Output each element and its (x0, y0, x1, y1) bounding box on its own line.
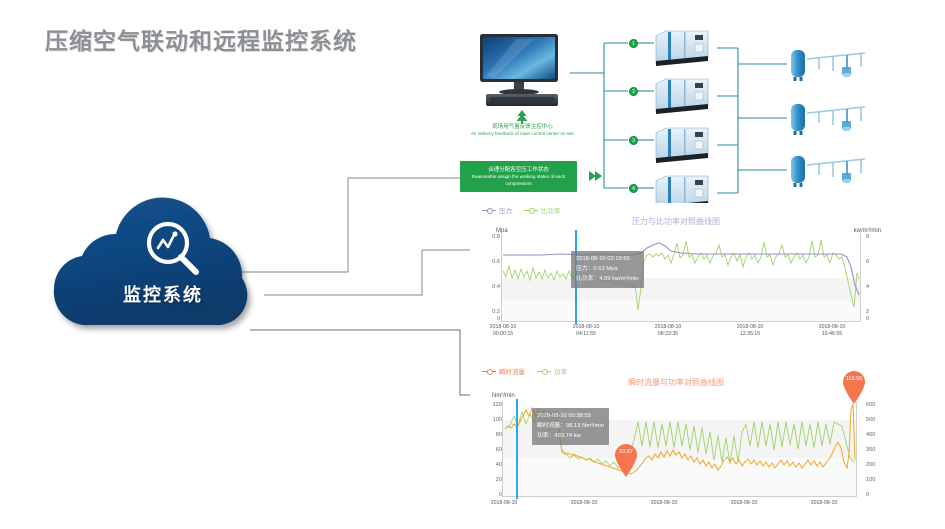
y2-tick: 500 (866, 417, 882, 423)
cloud-label: 监控系统 (38, 281, 288, 307)
legend-item-specific-power[interactable]: 比功率 (524, 205, 561, 215)
legend-label: 压力 (499, 205, 512, 215)
pressure-plot-area (501, 233, 861, 322)
x-tick-time: 00:00:15 (477, 331, 529, 338)
y2-tick: 600 (866, 402, 882, 408)
y-tick: 0.6 (484, 259, 500, 265)
air-tank-group-1[interactable] (787, 45, 873, 83)
x-tick: 2018-08-10 (718, 500, 770, 507)
x-tick-time: 12:35:15 (724, 331, 776, 338)
pressure-chart-title: 压力与比功率对照曲线图 (470, 216, 882, 227)
flow-chart-tooltip: 2018-08-10 00:38:55 瞬时流量：98.13 Nm³/min 功… (532, 408, 609, 445)
node-dot-4[interactable]: 4 (629, 184, 638, 193)
tooltip-line-1: 压力：0.63 Mpa (576, 264, 639, 274)
x-tick-date: 2018-08-10 (798, 500, 850, 507)
legend-item-instant-flow[interactable]: 瞬时流量 (482, 366, 525, 376)
x-tick: 2018-08-10 (558, 500, 610, 507)
legend-label: 比功率 (541, 205, 561, 215)
y-tick: 20 (486, 477, 502, 483)
tooltip-timestamp: 2018-08-10 02:19:55 (576, 254, 639, 264)
x-tick-time: 16:46:55 (806, 331, 858, 338)
y-tick: 60 (486, 447, 502, 453)
air-tank-group-3[interactable] (787, 151, 873, 189)
flow-chart[interactable]: 瞬时流量 功率 瞬时流量与功率对照曲线图 Nm³/min 120 100 80 … (470, 364, 882, 512)
pressure-chart[interactable]: 压力 比功率 压力与比功率对照曲线图 Mpa kw/m³/min 0.8 0.6… (470, 203, 882, 335)
marker-value: 118.55 (841, 376, 867, 382)
data-marker-pin-low[interactable]: 33.87 (613, 443, 639, 477)
y2-tick: 6 (866, 259, 882, 265)
flow-y-left-unit: Nm³/min (492, 393, 515, 399)
y2-tick: 0 (866, 492, 882, 498)
data-marker-pin-high[interactable]: 118.55 (841, 370, 867, 404)
x-tick-date: 2018-08-10 (806, 324, 858, 331)
x-tick-date: 2018-08-10 (558, 500, 610, 507)
x-tick: 2018-08-10 08:23:35 (642, 324, 694, 338)
x-tick-date: 2018-08-10 (477, 324, 529, 331)
y2-tick: 300 (866, 447, 882, 453)
legend-marker-icon (482, 207, 496, 214)
x-tick: 2018-08-10 00:00:15 (477, 324, 529, 338)
y-tick: 0.8 (484, 234, 500, 240)
pressure-chart-legend[interactable]: 压力 比功率 (482, 205, 561, 215)
y2-tick: 8 (866, 234, 882, 240)
node-dot-1[interactable]: 1 (629, 39, 638, 48)
y-tick: 0 (486, 492, 502, 498)
node-dot-2[interactable]: 2 (629, 87, 638, 96)
system-topology-diagram: 现场用气量反馈主控中心 Air delivery feedback of mai… (432, 18, 945, 204)
marker-value: 33.87 (613, 449, 639, 455)
x-tick: 2018-08-10 16:46:55 (806, 324, 858, 338)
compressor-icon-1[interactable] (654, 28, 710, 66)
y-tick: 120 (486, 402, 502, 408)
legend-label: 功率 (554, 366, 567, 376)
y2-tick: 100 (866, 477, 882, 483)
y-tick: 0.2 (484, 309, 500, 315)
x-tick: 2018-08-10 12:35:15 (724, 324, 776, 338)
tooltip-line-2: 功率：493.74 kw (537, 431, 604, 441)
compressor-icon-3[interactable] (654, 125, 710, 163)
flow-chart-cursor (516, 399, 518, 499)
x-tick: 2018-08-10 (798, 500, 850, 507)
magnifier-chart-icon (142, 218, 204, 280)
y2-tick: 0 (866, 316, 882, 322)
legend-marker-icon (537, 368, 551, 375)
legend-label: 瞬时流量 (499, 366, 525, 376)
x-tick: 2018-08-10 (478, 500, 530, 507)
legend-item-power[interactable]: 功率 (537, 366, 567, 376)
x-tick: 2018-08-10 04:11:55 (560, 324, 612, 338)
node-dot-3[interactable]: 3 (629, 136, 638, 145)
x-tick-date: 2018-08-10 (642, 324, 694, 331)
y2-tick: 4 (866, 284, 882, 290)
legend-marker-icon (524, 207, 538, 214)
x-tick-time: 08:23:35 (642, 331, 694, 338)
x-tick-date: 2018-08-10 (560, 324, 612, 331)
compressor-icon-2[interactable] (654, 76, 710, 114)
tooltip-line-1: 瞬时流量：98.13 Nm³/min (537, 421, 604, 431)
slide-canvas: 压缩空气联动和远程监控系统 (0, 0, 945, 529)
air-tank-group-2[interactable] (787, 99, 873, 137)
flow-chart-title: 瞬时流量与功率对照曲线图 (470, 377, 882, 388)
y2-tick: 200 (866, 462, 882, 468)
x-tick-time: 04:11:55 (560, 331, 612, 338)
y-tick: 100 (486, 417, 502, 423)
y-tick: 0 (484, 316, 500, 322)
legend-item-pressure[interactable]: 压力 (482, 205, 512, 215)
x-tick-date: 2018-08-10 (478, 500, 530, 507)
flow-chart-legend[interactable]: 瞬时流量 功率 (482, 366, 567, 376)
y-tick: 40 (486, 462, 502, 468)
tooltip-line-2: 比功率：4.99 kw/m³/min (576, 274, 639, 284)
y-tick: 80 (486, 432, 502, 438)
x-tick-date: 2018-08-10 (638, 500, 690, 507)
x-tick-date: 2018-08-10 (724, 324, 776, 331)
y2-tick: 400 (866, 432, 882, 438)
legend-marker-icon (482, 368, 496, 375)
tooltip-timestamp: 2018-08-10 00:38:55 (537, 411, 604, 421)
pressure-chart-tooltip: 2018-08-10 02:19:55 压力：0.63 Mpa 比功率：4.99… (571, 251, 644, 288)
x-tick-date: 2018-08-10 (718, 500, 770, 507)
x-tick: 2018-08-10 (638, 500, 690, 507)
page-title: 压缩空气联动和远程监控系统 (45, 22, 357, 56)
monitoring-cloud[interactable]: 监控系统 (38, 186, 288, 336)
y2-tick: 2 (866, 309, 882, 315)
y-tick: 0.4 (484, 284, 500, 290)
